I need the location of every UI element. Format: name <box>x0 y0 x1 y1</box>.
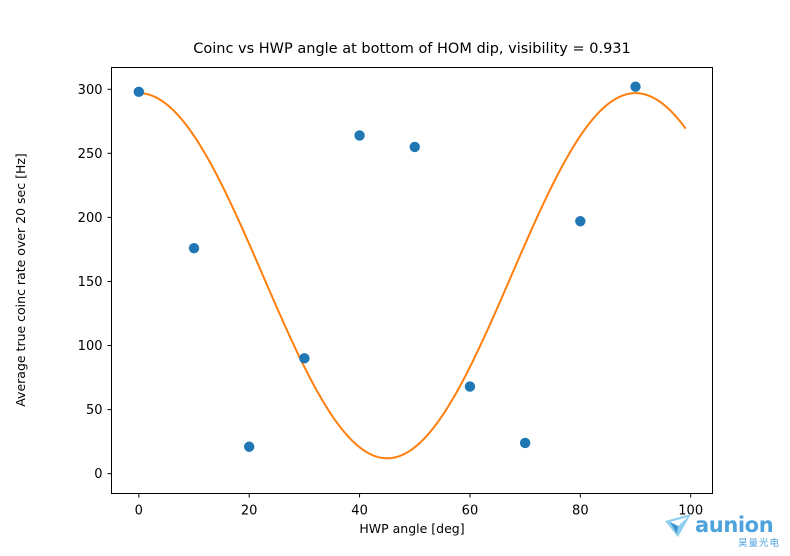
data-point <box>299 353 309 363</box>
data-point <box>630 82 640 92</box>
data-point <box>410 142 420 152</box>
data-point <box>465 381 475 391</box>
data-point <box>575 216 585 226</box>
figure-background <box>0 0 790 556</box>
y-tick-label: 250 <box>78 147 103 162</box>
data-point <box>244 442 254 452</box>
data-point <box>354 130 364 140</box>
data-point <box>189 243 199 253</box>
y-tick-label: 150 <box>78 275 103 290</box>
data-point <box>520 438 530 448</box>
x-axis-label: HWP angle [deg] <box>359 521 464 536</box>
y-tick-label: 50 <box>86 403 103 418</box>
data-point <box>134 87 144 97</box>
x-tick-label: 40 <box>351 504 368 519</box>
x-tick-label: 100 <box>678 504 703 519</box>
x-tick-label: 80 <box>572 504 589 519</box>
y-tick-label: 300 <box>78 83 103 98</box>
x-tick-label: 0 <box>135 504 143 519</box>
y-tick-label: 100 <box>78 339 103 354</box>
y-tick-label: 0 <box>94 467 102 482</box>
figure-canvas: Coinc vs HWP angle at bottom of HOM dip,… <box>0 0 790 556</box>
chart-title: Coinc vs HWP angle at bottom of HOM dip,… <box>193 41 631 57</box>
x-tick-label: 20 <box>241 504 258 519</box>
x-tick-label: 60 <box>462 504 479 519</box>
y-tick-label: 200 <box>78 211 103 226</box>
y-axis-label: Average true coinc rate over 20 sec [Hz] <box>13 153 28 407</box>
chart-svg: Coinc vs HWP angle at bottom of HOM dip,… <box>0 0 790 556</box>
